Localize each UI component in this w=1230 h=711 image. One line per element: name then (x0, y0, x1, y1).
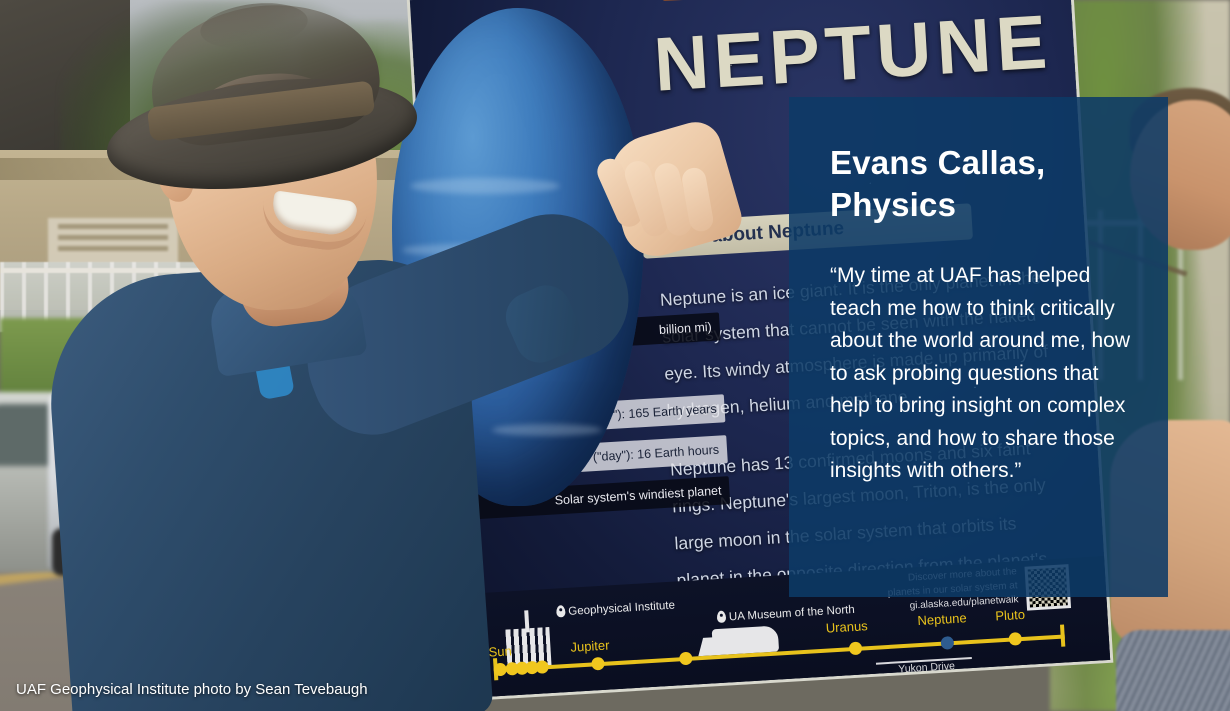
planet-label-uranus: Uranus (825, 618, 868, 635)
map-pin-icon (556, 605, 566, 618)
planet-label-pluto: Pluto (995, 607, 1025, 624)
poi-label-geophysical-institute: Geophysical Institute (568, 600, 675, 618)
street-label-yukon-drive: Yukon Drive (898, 660, 955, 675)
student-quote: “My time at UAF has helped teach me how … (830, 260, 1140, 488)
second-person-shirt (1116, 630, 1230, 711)
planet-dot-neptune (941, 636, 955, 650)
student-name-and-major: Evans Callas, Physics (830, 142, 1130, 226)
map-pin-icon (717, 611, 727, 624)
poster-title: NEPTUNE (652, 0, 1055, 109)
planet-dot-jupiter (591, 657, 605, 671)
planet-label-sun: Sun (488, 643, 512, 659)
facts-row-text: billion mi) (659, 320, 713, 337)
screenshot-root: NEPTUNE Facts about Neptune Neptune is a… (0, 0, 1230, 711)
planet-dot-pluto (1008, 632, 1022, 646)
planet-dot-saturn (679, 652, 693, 666)
geophysical-institute-tower-icon (524, 610, 529, 632)
sign-mounting-bracket (659, 0, 740, 1)
timeline-end-cap (1060, 624, 1065, 646)
planet-dot-inner-4 (535, 660, 549, 674)
planet-dot-uranus (849, 642, 863, 656)
testimonial-overlay-panel: Evans Callas, Physics “My time at UAF ha… (789, 97, 1168, 597)
photo-credit: UAF Geophysical Institute photo by Sean … (16, 681, 368, 698)
background-signboard (48, 218, 178, 268)
facts-row-text: Solar system's windiest planet (554, 484, 722, 508)
planet-label-neptune: Neptune (917, 610, 967, 628)
planet-label-jupiter: Jupiter (570, 637, 610, 654)
